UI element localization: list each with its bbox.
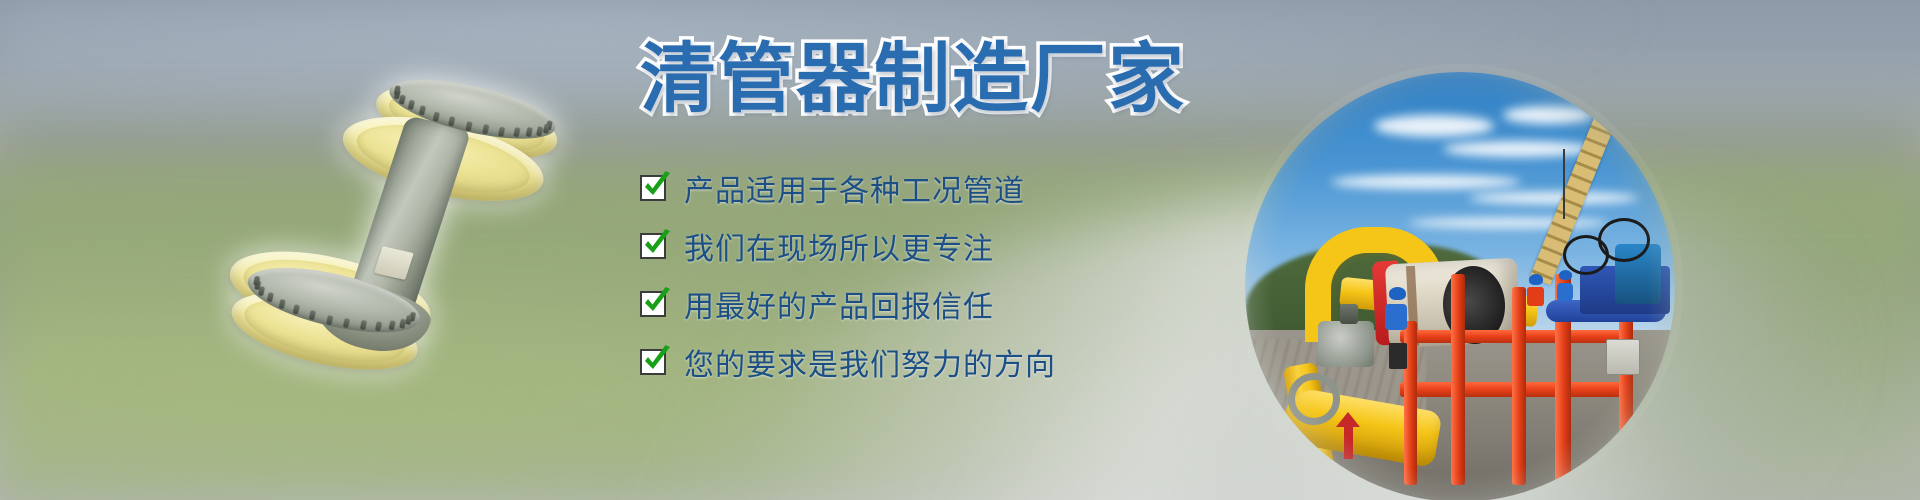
photo-worker-helmet: [1389, 287, 1406, 300]
feature-bullet-label: 我们在现场所以更专注: [684, 224, 994, 268]
pig-launcher-site-photo: [1245, 72, 1675, 500]
photo-worker-helmet: [1559, 270, 1572, 280]
pig-flange-bolt: [448, 116, 455, 126]
pig-flange-bolt: [293, 305, 300, 315]
promo-banner: 清管器制造厂家 产品适用于各种工况管道我们在现场所以更专注用最好的产品回报信任您…: [0, 0, 1920, 500]
photo-cloud: [1443, 141, 1593, 157]
checkbox-checked-icon: [640, 175, 666, 201]
photo-worker-body: [1385, 304, 1407, 330]
pig-flange-bolt: [326, 315, 333, 325]
pig-flange-bolt: [399, 95, 406, 105]
pig-flange-bolt: [258, 286, 265, 296]
feature-bullet-label: 您的要求是我们努力的方向: [684, 340, 1056, 384]
photo-frame-post: [1512, 287, 1526, 485]
photo-flow-arrow: [1344, 425, 1353, 459]
pig-flange-bolt: [499, 127, 506, 137]
banner-text-block: 清管器制造厂家 产品适用于各种工况管道我们在现场所以更专注用最好的产品回报信任您…: [640, 40, 1200, 391]
photo-worker-legs: [1389, 343, 1407, 369]
pig-flange-bolt: [526, 128, 533, 138]
pig-flange-bolt: [278, 299, 285, 309]
banner-headline: 清管器制造厂家: [640, 40, 1200, 121]
pig-flange-bolt: [433, 111, 440, 121]
photo-control-panel: [1606, 339, 1640, 375]
pig-flange-bolt: [360, 320, 367, 330]
photo-cloud: [1374, 115, 1494, 137]
checkbox-checked-icon: [640, 233, 666, 259]
site-photo-circle: [1245, 72, 1675, 500]
checkbox-checked-icon: [640, 349, 666, 375]
photo-worker-vest: [1527, 287, 1544, 306]
checkbox-checked-icon: [640, 291, 666, 317]
pig-flange-bolt: [465, 121, 472, 131]
feature-bullet-item: 您的要求是我们努力的方向: [640, 333, 1200, 391]
photo-hydraulic-hose: [1598, 218, 1650, 262]
pig-flange-bolt: [309, 310, 316, 320]
feature-bullet-item: 用最好的产品回报信任: [640, 275, 1200, 333]
photo-valve-stem: [1340, 304, 1358, 324]
pipeline-pig-graphic: [204, 11, 606, 429]
pig-flange-bolt: [482, 124, 489, 134]
pig-flange-bolt: [513, 128, 520, 138]
pig-flange-bolt: [376, 321, 383, 331]
pig-flange-bolt: [399, 319, 406, 329]
pig-flange-bolt: [419, 106, 426, 116]
photo-frame-post: [1451, 274, 1465, 485]
photo-worker-body: [1557, 283, 1573, 301]
pig-flange-bolt: [343, 318, 350, 328]
photo-valve-body: [1318, 321, 1374, 367]
feature-bullet-label: 用最好的产品回报信任: [684, 282, 994, 326]
pipeline-pig-product-photo: [255, 55, 555, 385]
feature-bullet-item: 产品适用于各种工况管道: [640, 159, 1200, 217]
pig-flange-bolt: [389, 321, 396, 331]
feature-bullet-label: 产品适用于各种工况管道: [684, 166, 1025, 210]
pig-flange-bolt: [267, 293, 274, 303]
photo-crane-cable: [1563, 149, 1565, 219]
photo-pipe-flange: [1288, 373, 1340, 425]
pig-flange-bolt: [536, 126, 543, 136]
pig-flange-bolt: [407, 100, 414, 110]
photo-frame-post: [1619, 296, 1633, 494]
photo-worker-helmet: [1529, 274, 1543, 285]
feature-bullet-item: 我们在现场所以更专注: [640, 217, 1200, 275]
feature-bullet-list: 产品适用于各种工况管道我们在现场所以更专注用最好的产品回报信任您的要求是我们努力…: [640, 159, 1200, 391]
pig-flange-bolt: [543, 124, 550, 134]
